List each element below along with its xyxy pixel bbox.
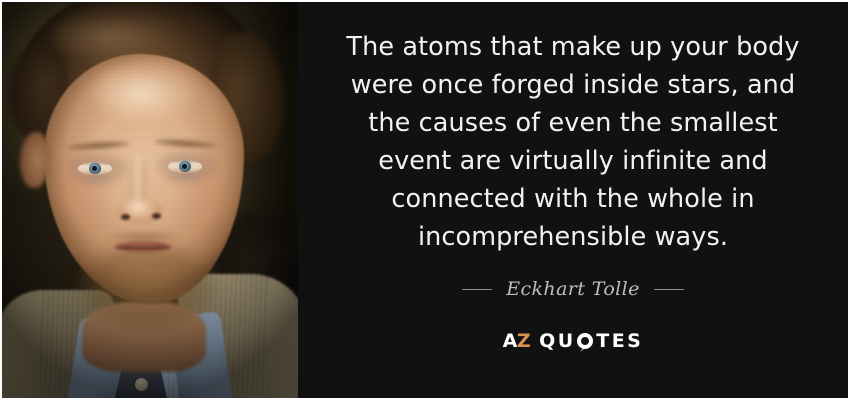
portrait-nose-tip [118, 198, 162, 224]
portrait-hair-highlight [54, 6, 184, 64]
logo-letter-a: A [503, 330, 517, 352]
portrait-undereye-left [74, 174, 118, 188]
portrait-ear [20, 132, 48, 188]
portrait-nostril-left [121, 214, 130, 220]
logo-az-wordmark: AZ [503, 330, 531, 352]
quote-text: The atoms that make up your body were on… [336, 28, 811, 256]
logo-quotes-prefix: QU [539, 330, 576, 352]
portrait-pupil-left [92, 166, 97, 171]
portrait-pupil-right [182, 164, 187, 169]
attribution-author-name: Eckhart Tolle [506, 278, 640, 300]
author-portrait-photo [2, 2, 298, 398]
portrait-lip-line [116, 247, 170, 249]
portrait-undereye-right [164, 172, 208, 186]
speech-bubble-icon [577, 333, 593, 349]
quote-card: The atoms that make up your body were on… [0, 0, 850, 400]
attribution-dash-right [654, 289, 684, 290]
portrait-forehead-highlight [94, 64, 198, 122]
logo-quotes-wordmark: QUTES [539, 330, 643, 352]
attribution: Eckhart Tolle [462, 278, 684, 300]
portrait-nostril-right [152, 213, 161, 219]
azquotes-logo[interactable]: AZ QUTES [503, 330, 644, 352]
portrait-shirt-button [135, 378, 148, 391]
logo-quotes-suffix: TES [596, 330, 643, 352]
quote-text-panel: The atoms that make up your body were on… [298, 2, 848, 398]
portrait-panel [2, 2, 298, 398]
logo-letter-z: Z [517, 330, 530, 352]
attribution-dash-left [462, 289, 492, 290]
